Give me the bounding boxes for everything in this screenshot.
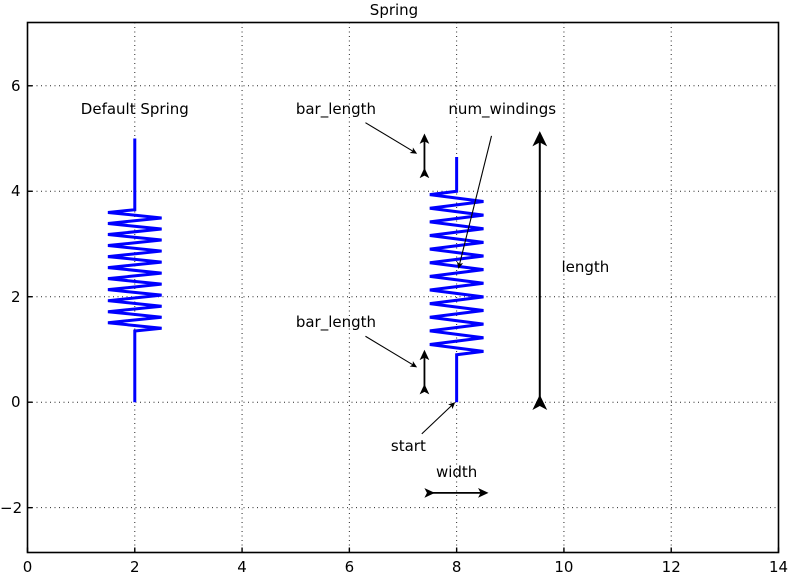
x-tick-label: 0 [23, 558, 33, 576]
bar-length-bottom-label: bar_length [296, 313, 376, 331]
start-label: start [391, 437, 426, 455]
num-windings-label: num_windings [448, 100, 556, 118]
default-spring-label: Default Spring [81, 100, 189, 118]
start-label-arrow [422, 405, 453, 434]
spring-plot-svg [0, 0, 788, 577]
width-label: width [436, 463, 477, 481]
spring-shapes [108, 139, 484, 403]
length-label: length [561, 258, 609, 276]
x-tick-label: 14 [769, 558, 788, 576]
y-tick-label: −2 [0, 499, 21, 517]
x-tick-label: 10 [554, 558, 573, 576]
x-tick-label: 12 [662, 558, 681, 576]
y-tick-label: 4 [0, 182, 21, 200]
bar-length-top-label: bar_length [296, 100, 376, 118]
figure-canvas: Spring Default Springbar_lengthbar_lengt… [0, 0, 788, 577]
y-tick-label: 2 [0, 288, 21, 306]
x-tick-label: 6 [345, 558, 355, 576]
y-tick-label: 6 [0, 77, 21, 95]
y-tick-label: 0 [0, 393, 21, 411]
x-tick-label: 2 [130, 558, 140, 576]
x-tick-label: 4 [237, 558, 247, 576]
default-spring-path [108, 139, 162, 403]
bar-length-top-label-arrow [365, 123, 413, 152]
bar-length-bottom-label-arrow [365, 336, 413, 365]
x-tick-label: 8 [452, 558, 462, 576]
